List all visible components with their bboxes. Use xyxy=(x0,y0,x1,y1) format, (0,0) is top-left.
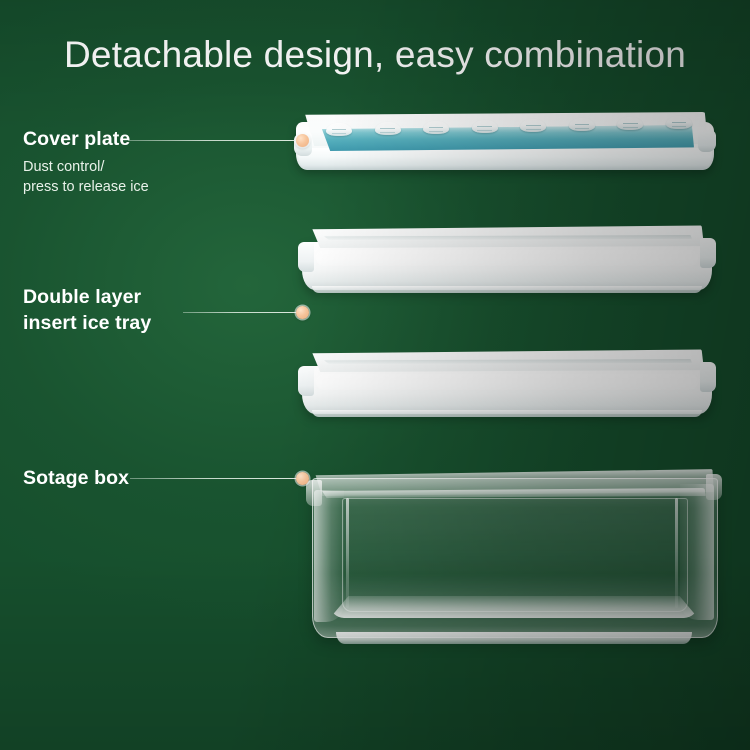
product-infographic: Detachable design, easy combination xyxy=(0,0,750,750)
background-vignette xyxy=(0,0,750,750)
